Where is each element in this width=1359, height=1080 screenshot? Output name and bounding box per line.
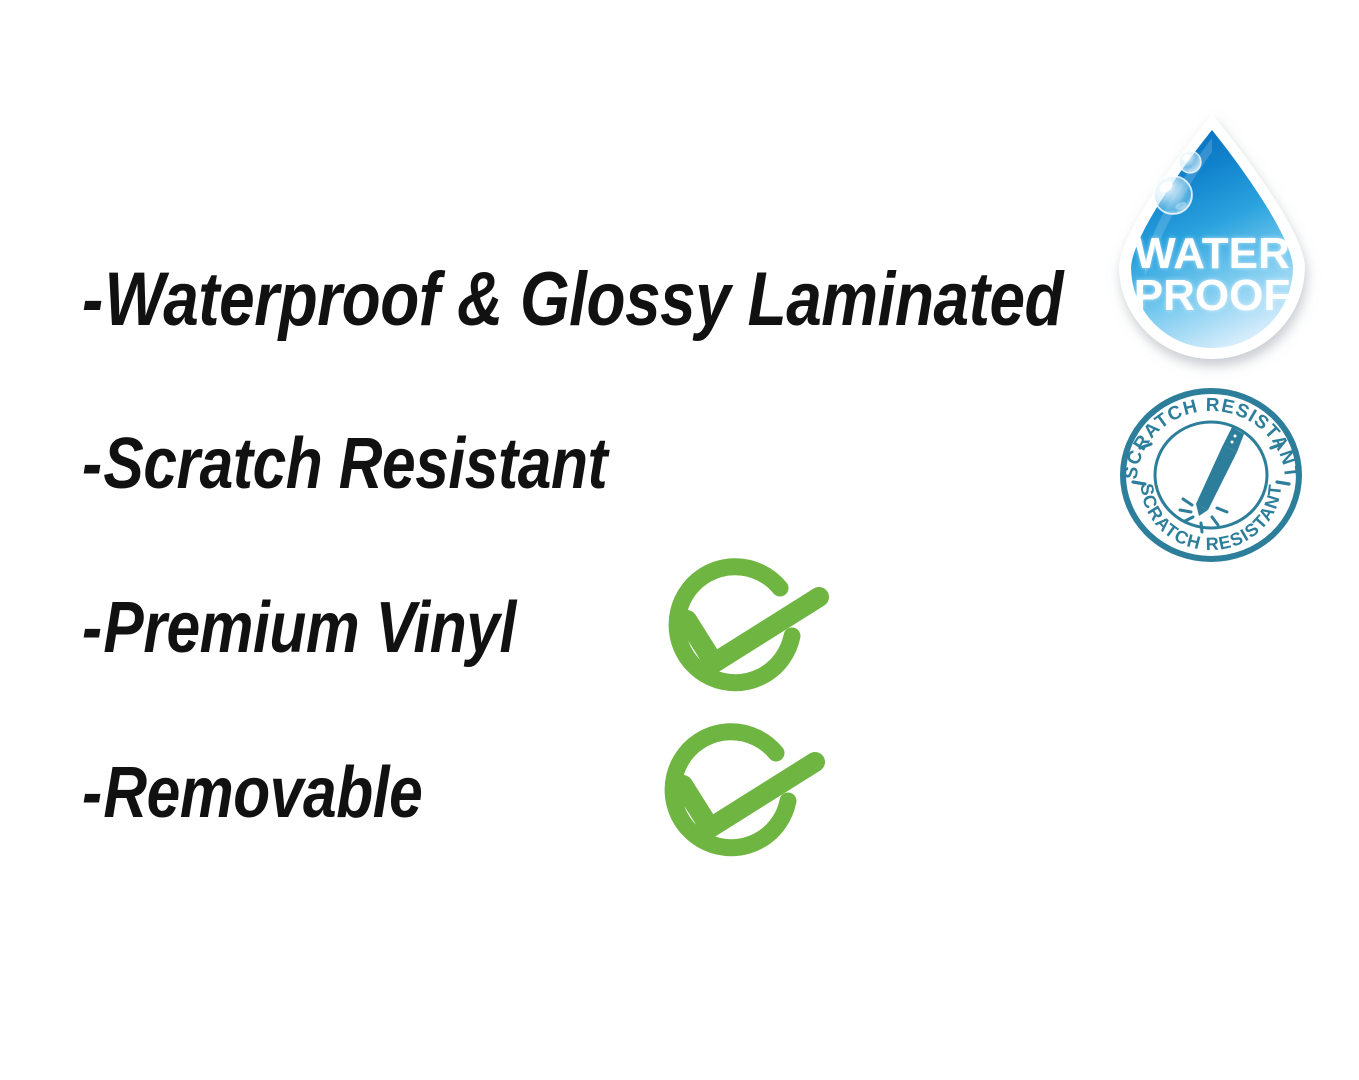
waterproof-text-line2: PROOF	[1134, 271, 1290, 320]
scratch-resistant-stamp-badge: SCRATCH RESISTANT SCRATCH RESISTANT	[1113, 386, 1309, 564]
feature-bullet-dash: -	[82, 757, 102, 829]
knife-icon	[1180, 427, 1244, 532]
feature-label: Premium Vinyl	[103, 588, 515, 668]
check-mark-stroke	[687, 597, 819, 663]
feature-line-removable: -Removable	[82, 757, 422, 829]
feature-bullet-dash: -	[82, 262, 103, 338]
water-bubble-small	[1179, 151, 1201, 173]
waterproof-text-group: WATER WATER PROOF PROOF	[1134, 229, 1290, 320]
water-bubble-large	[1154, 176, 1192, 214]
feature-line-waterproof: -Waterproof & Glossy Laminated	[82, 262, 1063, 338]
waterproof-droplet-badge: WATER WATER PROOF PROOF	[1106, 110, 1318, 368]
feature-label: Removable	[103, 753, 422, 833]
product-features-panel: -Waterproof & Glossy Laminated -Scratch …	[0, 0, 1359, 1080]
feature-line-premium-vinyl: -Premium Vinyl	[82, 592, 516, 664]
feature-label: Scratch Resistant	[103, 424, 607, 504]
green-check-circle-icon-removable	[639, 723, 835, 883]
stamp-text-top: SCRATCH RESISTANT	[1121, 395, 1301, 481]
green-check-circle-icon-premium-vinyl	[643, 558, 839, 718]
feature-bullet-dash: -	[82, 428, 102, 500]
feature-line-scratch-resistant: -Scratch Resistant	[82, 428, 607, 500]
feature-bullet-dash: -	[82, 592, 102, 664]
feature-label: Waterproof & Glossy Laminated	[105, 257, 1064, 342]
check-mark-stroke	[683, 762, 815, 828]
